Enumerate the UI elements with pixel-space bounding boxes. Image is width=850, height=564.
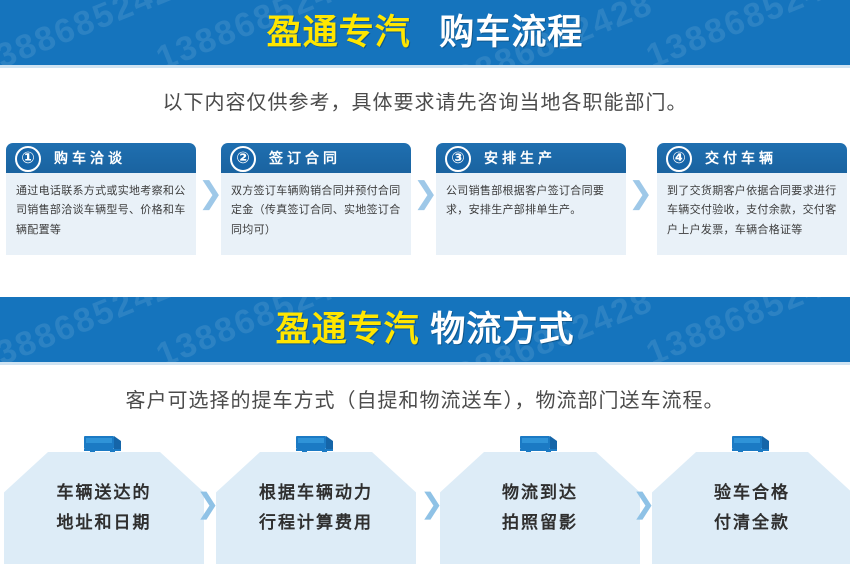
logistics-line-1: 验车合格 [714,478,790,508]
logistics-line-2: 地址和日期 [57,508,152,538]
chevron-right-icon: ❯ [413,179,438,209]
logistics-shape: 车辆送达的 地址和日期 [4,452,204,564]
step-body: 到了交货期客户依据合同要求进行车辆交付验收，支付余款，交付客户上户发票，车辆合格… [657,173,847,255]
step-number-badge: ① [15,146,41,172]
step-card-1[interactable]: ① 购车洽谈 通过电话联系方式或实地考察和公司销售部洽谈车辆型号、价格和车辆配置… [6,143,196,255]
watermark-text: 13886852428 [0,0,199,68]
logistics-line-1: 根据车辆动力 [259,478,373,508]
logistics-card-4[interactable]: 验车合格 付清全款 [652,432,850,564]
logistics-line-2: 付清全款 [714,508,790,538]
step-header: ② 签订合同 [221,143,411,173]
logistics-line-1: 车辆送达的 [57,478,152,508]
logistics-line-2: 行程计算费用 [259,508,373,538]
banner-title: 盈通专汽 物流方式 [276,312,575,347]
step-card-4[interactable]: ④ 交付车辆 到了交货期客户依据合同要求进行车辆交付验收，支付余款，交付客户上户… [657,143,847,255]
step-title: 安排生产 [484,148,556,168]
watermark-text: 13886852428 [641,297,850,365]
step-body: 双方签订车辆购销合同并预付合同定金（传真签订合同、实地签订合同均可） [221,173,411,255]
banner-brand-text: 盈通专汽 [267,13,411,52]
logistics-shape: 根据车辆动力 行程计算费用 [216,452,416,564]
step-title: 购车洽谈 [54,148,126,168]
infographic-page: 13886852428 13886852428 13886852428 1388… [0,0,850,564]
logistics-card-2[interactable]: 根据车辆动力 行程计算费用 [216,432,416,564]
purchase-subtitle: 以下内容仅供参考，具体要求请先咨询当地各职能部门。 [0,86,850,115]
logistics-subtitle: 客户可选择的提车方式（自提和物流送车），物流部门送车流程。 [0,384,850,413]
logistics-steps-row: 车辆送达的 地址和日期 ❯ 根据车辆动力 行程计算费用 ❯ [0,432,850,564]
step-header: ① 购车洽谈 [6,143,196,173]
step-number-badge: ③ [445,146,471,172]
logistics-line-2: 拍照留影 [502,508,578,538]
banner-brand-text: 盈通专汽 [276,310,420,349]
step-title: 交付车辆 [705,148,777,168]
watermark-text: 13886852428 [0,297,199,365]
logistics-shape: 物流到达 拍照留影 [440,452,640,564]
logistics-line-1: 物流到达 [502,478,578,508]
step-number-badge: ④ [666,146,692,172]
banner-heading-text: 物流方式 [430,310,574,349]
banner-heading-text: 购车流程 [439,13,583,52]
step-header: ③ 安排生产 [436,143,626,173]
step-header: ④ 交付车辆 [657,143,847,173]
step-number-badge: ② [230,146,256,172]
watermark-text: 13886852428 [641,0,850,68]
step-card-3[interactable]: ③ 安排生产 公司销售部根据客户签订合同要求，安排生产部排单生产。 [436,143,626,255]
step-card-2[interactable]: ② 签订合同 双方签订车辆购销合同并预付合同定金（传真签订合同、实地签订合同均可… [221,143,411,255]
chevron-right-icon: ❯ [198,179,223,209]
logistics-banner: 13886852428 13886852428 13886852428 1388… [0,297,850,365]
step-body: 公司销售部根据客户签订合同要求，安排生产部排单生产。 [436,173,626,255]
purchase-process-banner: 13886852428 13886852428 13886852428 1388… [0,0,850,68]
logistics-card-1[interactable]: 车辆送达的 地址和日期 [4,432,204,564]
logistics-card-3[interactable]: 物流到达 拍照留影 [440,432,640,564]
purchase-steps-row: ① 购车洽谈 通过电话联系方式或实地考察和公司销售部洽谈车辆型号、价格和车辆配置… [0,143,850,258]
step-title: 签订合同 [269,148,341,168]
banner-title: 盈通专汽 购车流程 [267,15,584,50]
step-body: 通过电话联系方式或实地考察和公司销售部洽谈车辆型号、价格和车辆配置等 [6,173,196,255]
chevron-right-icon: ❯ [628,179,653,209]
logistics-shape: 验车合格 付清全款 [652,452,850,564]
